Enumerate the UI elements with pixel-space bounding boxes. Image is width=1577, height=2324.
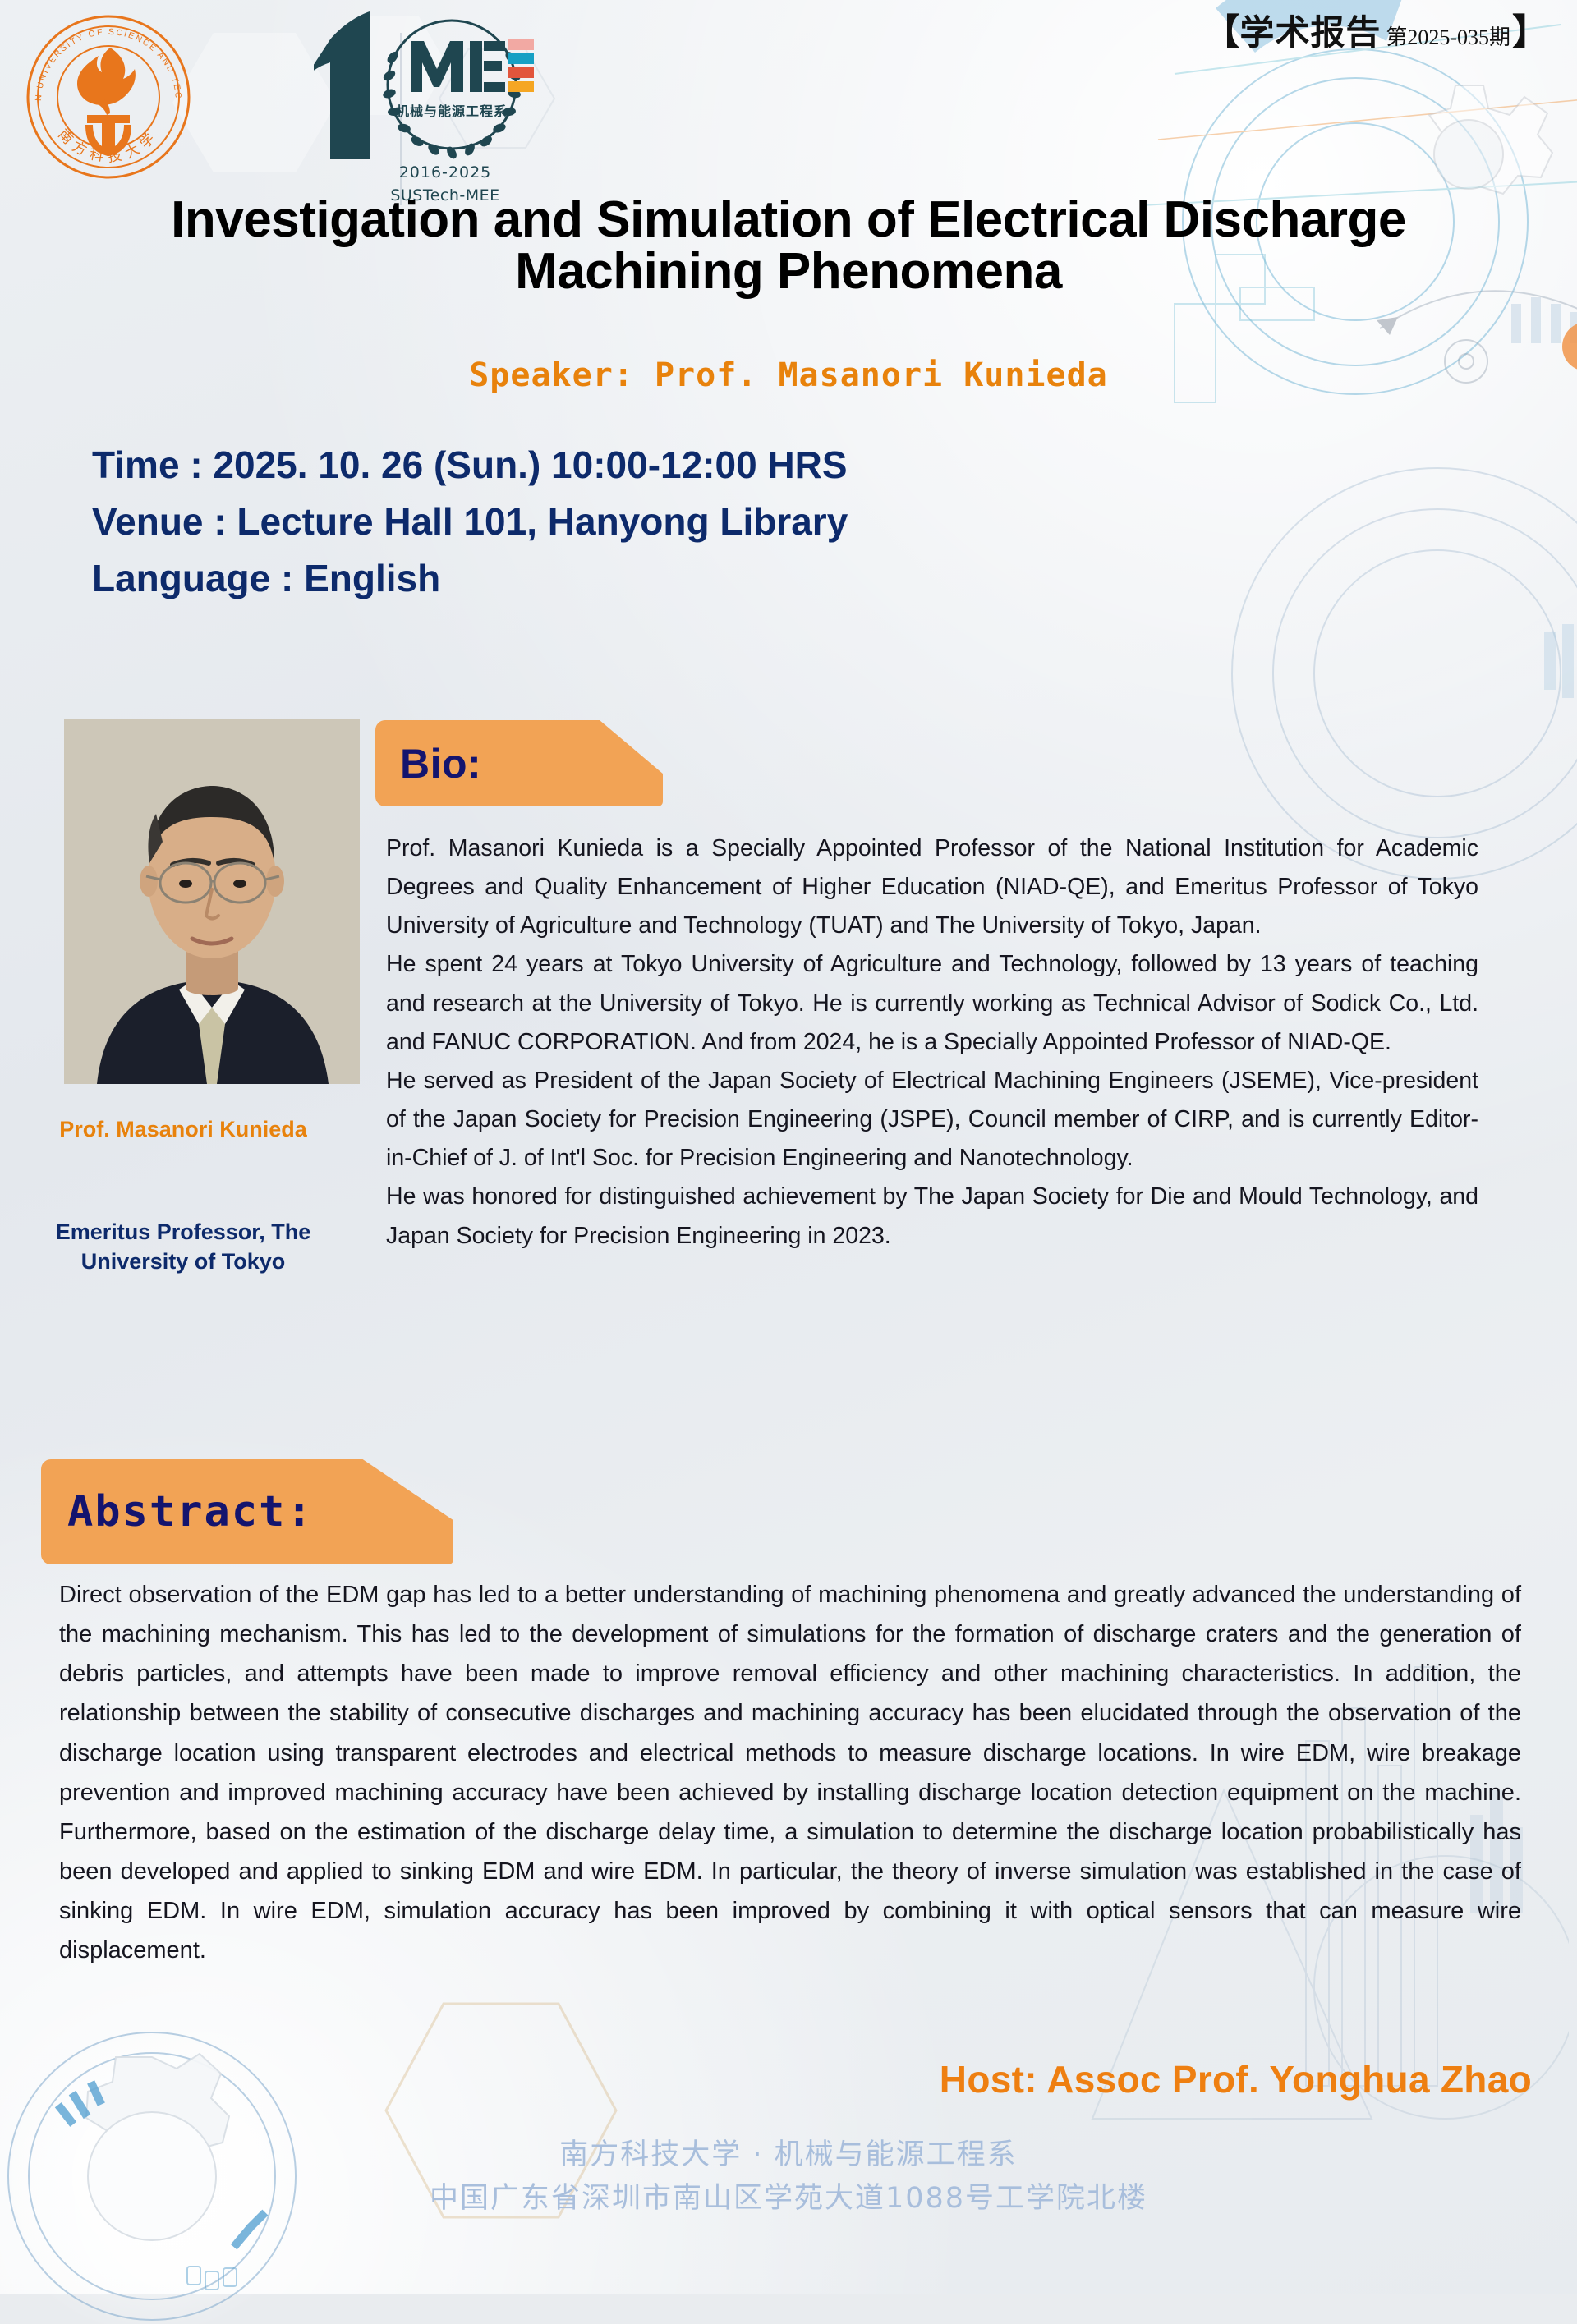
bio-paragraph-3: He served as President of the Japan Soci… (386, 1062, 1478, 1178)
abstract-text: Direct observation of the EDM gap has le… (59, 1575, 1521, 1970)
seminar-title: Investigation and Simulation of Electric… (49, 194, 1528, 297)
mee-department-cn: 机械与能源工程系 (396, 103, 508, 119)
event-time: Time : 2025. 10. 26 (Sun.) 10:00-12:00 H… (92, 442, 848, 488)
badge-category-label: 学术报告 (1239, 16, 1381, 50)
footer-street-address: 中国广东省深圳市南山区学苑大道1088号工学院北楼 (0, 2177, 1577, 2221)
event-venue: Venue : Lecture Hall 101, Hanyong Librar… (92, 498, 848, 544)
bio-section-label: Bio: (400, 740, 481, 788)
bio-paragraph-1: Prof. Masanori Kunieda is a Specially Ap… (386, 829, 1478, 945)
speaker-affiliation-caption: Emeritus Professor, The University of To… (39, 1218, 327, 1276)
mee-subtitle: SUSTech-MEE (390, 186, 499, 204)
abstract-body: Direct observation of the EDM gap has le… (59, 1575, 1521, 1970)
badge-issue-number: 第2025-035期 (1386, 21, 1510, 51)
event-details: Time : 2025. 10. 26 (Sun.) 10:00-12:00 H… (92, 442, 848, 612)
sustech-seal-logo: SOUTHERN UNIVERSITY OF SCIENCE AND TECHN… (18, 5, 199, 187)
mee-color-bars (508, 39, 534, 92)
speaker-portrait (64, 719, 360, 1084)
host-line: Host: Assoc Prof. Yonghua Zhao (940, 2057, 1532, 2101)
mee-years: 2016-2025 (399, 163, 492, 181)
anniversary-one-shape (314, 11, 370, 159)
badge-bracket-close: 】 (1512, 15, 1548, 51)
badge-bracket-open: 【 (1203, 15, 1239, 51)
mee-letters (411, 41, 505, 92)
footer-address: 南方科技大学 · 机械与能源工程系 中国广东省深圳市南山区学苑大道1088号工学… (0, 2133, 1577, 2220)
abstract-section-label: Abstract: (67, 1487, 314, 1536)
seminar-series-badge: 【 学术报告 第2025-035期 】 (1203, 15, 1548, 51)
bio-paragraph-4: He was honored for distinguished achieve… (386, 1178, 1478, 1255)
speaker-line: Speaker: Prof. Masanori Kunieda (49, 356, 1528, 394)
bio-paragraph-2: He spent 24 years at Tokyo University of… (386, 945, 1478, 1061)
mee-anniversary-logo: 机械与能源工程系 2016-2025 SUSTech-MEE (314, 7, 549, 212)
event-language: Language : English (92, 555, 848, 601)
torch-flame-icon (77, 48, 136, 156)
speaker-name-caption: Prof. Masanori Kunieda (39, 1115, 327, 1144)
bio-text: Prof. Masanori Kunieda is a Specially Ap… (386, 829, 1478, 1256)
footer-organization: 南方科技大学 · 机械与能源工程系 (0, 2133, 1577, 2177)
